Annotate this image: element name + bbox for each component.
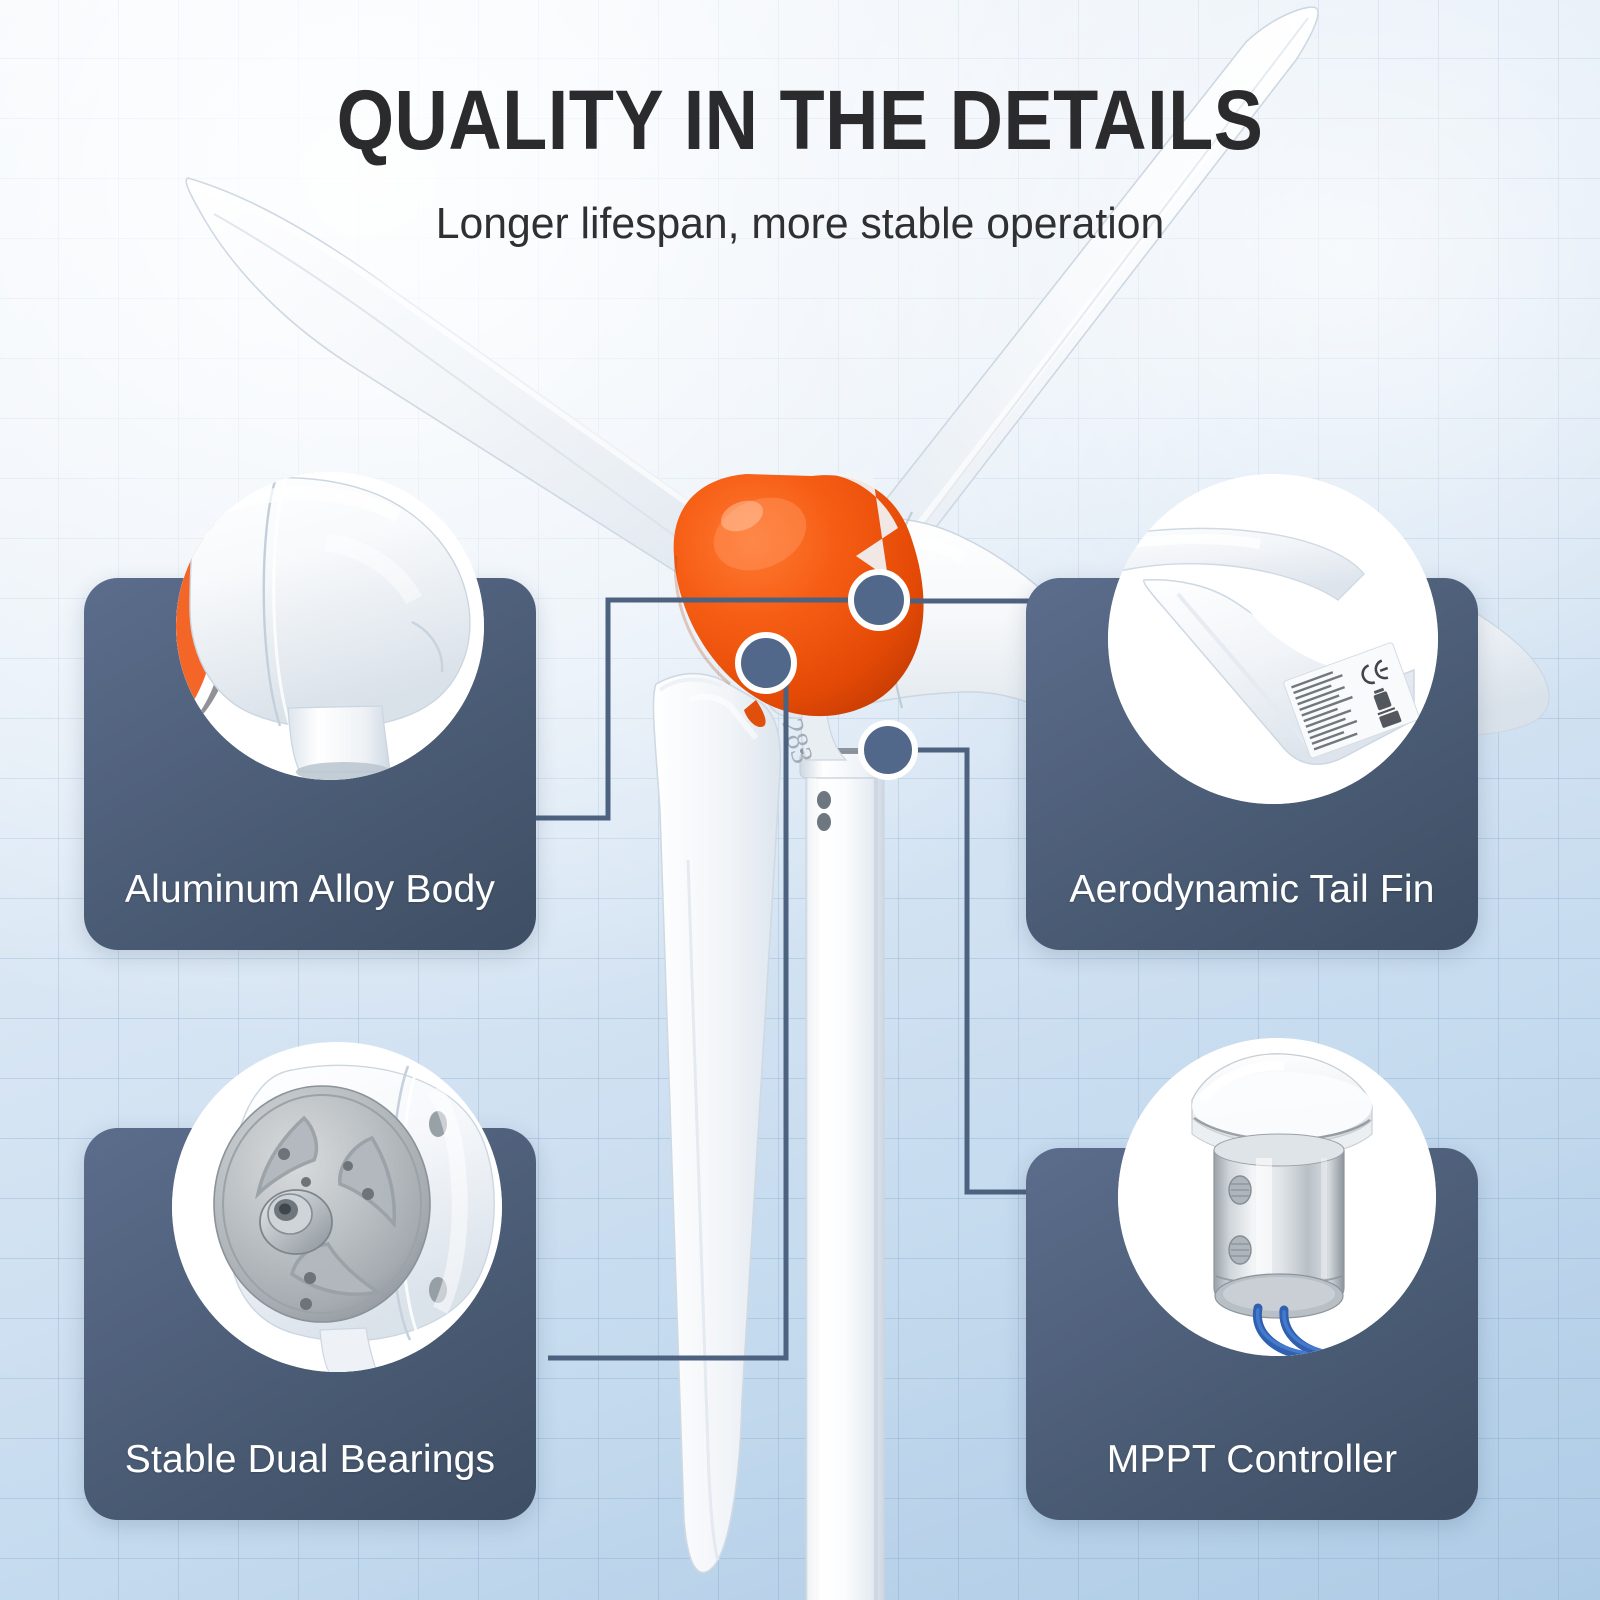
turbine-mast xyxy=(800,748,892,1600)
callout-label-mppt-controller: MPPT Controller xyxy=(1026,1438,1478,1482)
turbine-blade-lower xyxy=(653,674,780,1573)
infographic-canvas: 283 xyxy=(0,0,1600,1600)
connector-dot-mppt xyxy=(861,723,915,777)
callout-label-aluminum-alloy-body: Aluminum Alloy Body xyxy=(84,868,536,912)
callout-label-stable-dual-bearings: Stable Dual Bearings xyxy=(84,1438,536,1482)
page-subtitle: Longer lifespan, more stable operation xyxy=(24,200,1576,248)
callout-image-mppt-controller xyxy=(1118,1038,1436,1356)
callout-image-stable-dual-bearings xyxy=(172,1042,502,1372)
callout-image-aluminum-alloy-body xyxy=(176,472,484,780)
bearing-hub xyxy=(260,1190,332,1254)
connector-dot-aluminum xyxy=(851,572,907,628)
callout-label-aerodynamic-tail-fin: Aerodynamic Tail Fin xyxy=(1026,868,1478,912)
callout-image-aerodynamic-tail-fin xyxy=(1108,474,1438,804)
page-title: QUALITY IN THE DETAILS xyxy=(96,78,1504,162)
connector-dot-bearings xyxy=(738,635,794,691)
